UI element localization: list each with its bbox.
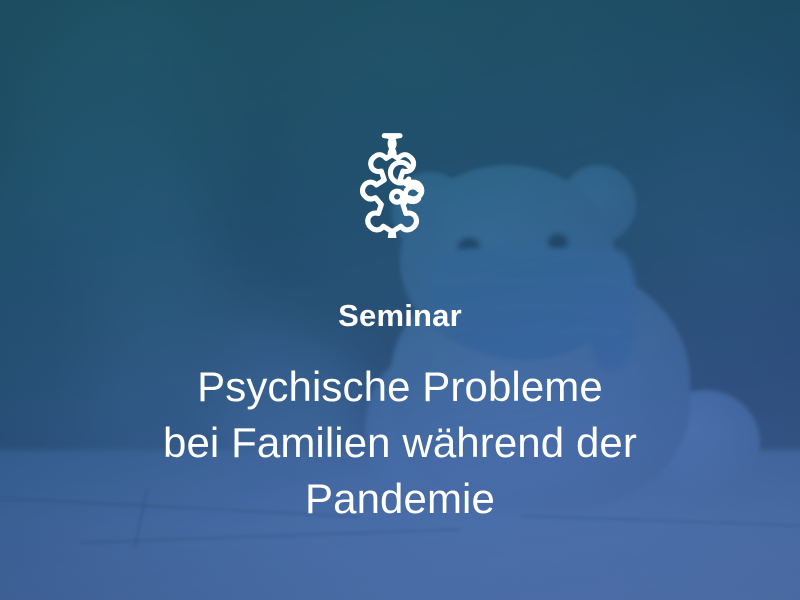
coronavirus-icon	[341, 120, 459, 238]
title-line-1: Psychische Probleme	[163, 359, 637, 415]
card-content: Seminar Psychische Probleme bei Familien…	[0, 0, 800, 600]
title-line-2: bei Familien während der	[163, 415, 637, 471]
seminar-banner-card: Seminar Psychische Probleme bei Familien…	[0, 0, 800, 600]
page-title: Psychische Probleme bei Familien während…	[163, 359, 637, 527]
title-line-3: Pandemie	[163, 471, 637, 527]
eyebrow-label: Seminar	[338, 300, 462, 331]
